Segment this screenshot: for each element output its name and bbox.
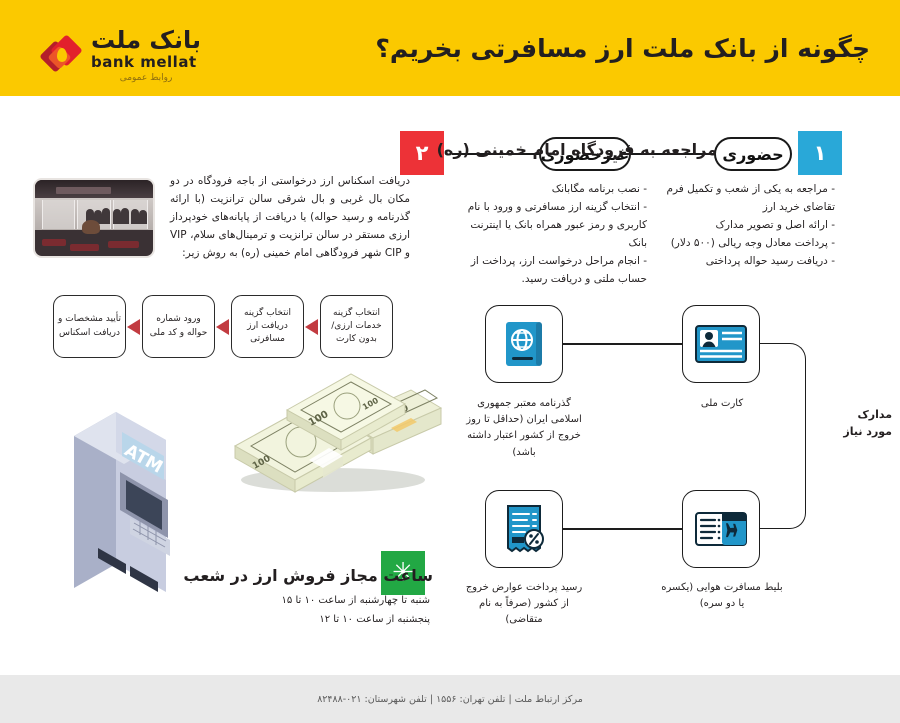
hours-line-1: شنبه تا چهارشنبه از ساعت ۱۰ تا ۱۵ [205,592,430,611]
page-title: چگونه از بانک ملت ارز مسافرتی بخریم؟ [375,34,870,63]
logo-name-fa: بانک ملت [91,28,201,52]
receipt-icon [501,503,547,555]
atm-machine-illustration: ATM [70,388,200,598]
flow-step-1-box[interactable]: انتخاب گزینه خدمات ارزی/ بدون کارت [320,295,393,358]
document-label-air-ticket: بلیط مسافرت هوایی (یکسره یا دو سره) [660,580,784,612]
flow-arrow-1-icon [305,319,318,335]
page-header: بانک ملت bank mellat روابط عمومی چگونه ا… [0,0,900,96]
hours-line-2: پنجشنبه از ساعت ۱۰ تا ۱۲ [205,611,430,630]
footer-contact-text: مرکز ارتباط ملت | تلفن تهران: ۱۵۵۶ | تلف… [317,694,583,705]
documents-bracket [760,343,806,529]
page-footer: مرکز ارتباط ملت | تلفن تهران: ۱۵۵۶ | تلف… [0,675,900,723]
bank-mellat-logo-mark [42,36,82,76]
connector-line-top [563,343,682,345]
logo-name-en: bank mellat [91,55,201,70]
flow-arrow-3-icon [127,319,140,335]
connector-line-bottom [563,528,682,530]
madarek-line-1: مدارک [812,406,892,423]
step-2-title: مراجعه به فرودگاه امام خمینی (ره) [437,140,717,159]
mode-in-person-pill[interactable]: حضوری [714,137,792,171]
infographic-page: بانک ملت bank mellat روابط عمومی چگونه ا… [0,0,900,723]
step-2-text: دریافت اسکناس ارز درخواستی از باجه فرودگ… [170,172,410,262]
passport-icon [502,319,546,369]
documents-bracket-label: مدارک مورد نیاز [812,406,892,440]
step-1-in-person-text: - مراجعه به یکی از شعب و تکمیل فرم تقاضا… [655,180,835,270]
airplane-ticket-icon [694,508,748,550]
id-card-icon [694,323,748,365]
flow-step-2-box[interactable]: انتخاب گزینه دریافت ارز مسافرتی [231,295,304,358]
document-label-passport: گذرنامه معتبر جمهوری اسلامی ایران (حداقل… [462,396,586,461]
step-1-badge: ۱ [798,131,842,175]
document-label-exit-toll-receipt: رسید پرداخت عوارض خروج از کشور (صرفاً به… [462,580,586,629]
step-1-online-text: - نصب برنامه مگابانک - انتخاب گزینه ارز … [462,180,647,288]
step-3-title: ساعت مجاز فروش ارز در شعب [183,566,433,585]
document-card-passport[interactable] [485,305,563,383]
logo-subtitle: روابط عمومی [91,74,201,83]
step-3-hours-text: شنبه تا چهارشنبه از ساعت ۱۰ تا ۱۵ پنجشنب… [205,592,430,629]
airport-counter-photo [33,178,155,258]
flow-step-4-box[interactable]: تأیید مشخصات و دریافت اسکناس [53,295,126,358]
cash-bundles-illustration: 100 100 100 100 [225,368,445,493]
document-card-exit-toll-receipt[interactable] [485,490,563,568]
document-card-national-id[interactable] [682,305,760,383]
flow-step-3-box[interactable]: ورود شماره حواله و کد ملی [142,295,215,358]
madarek-line-2: مورد نیاز [812,423,892,440]
document-card-air-ticket[interactable] [682,490,760,568]
flow-arrow-2-icon [216,319,229,335]
bank-mellat-logo: بانک ملت bank mellat روابط عمومی [42,28,201,83]
